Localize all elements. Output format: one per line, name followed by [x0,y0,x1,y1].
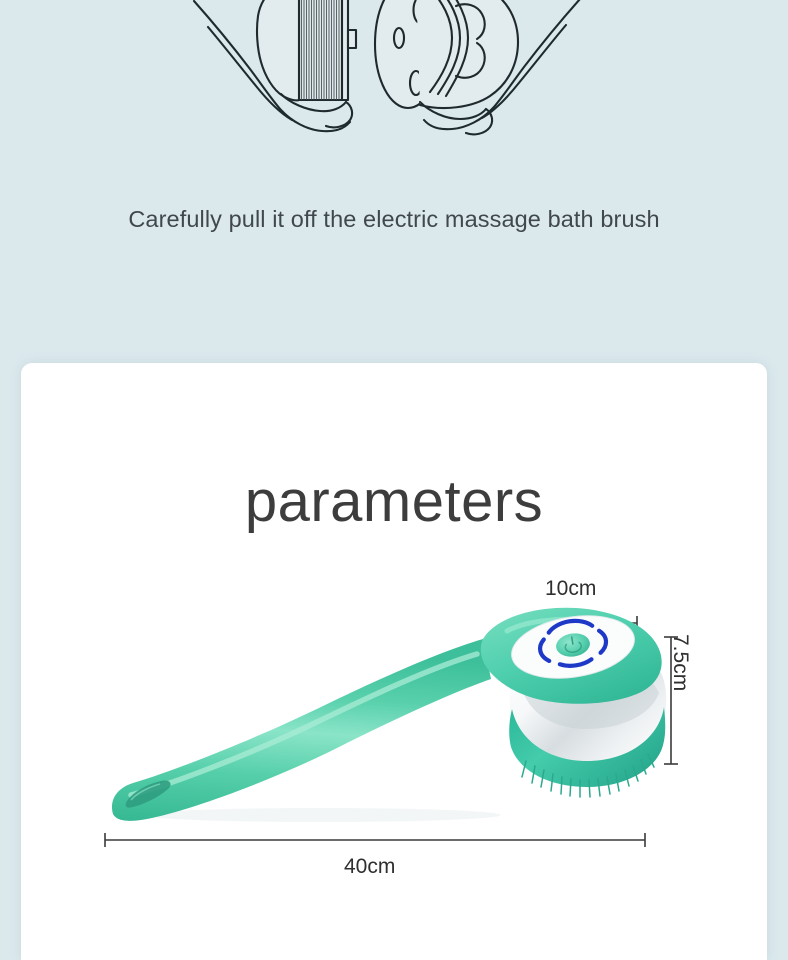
instruction-section: Carefully pull it off the electric massa… [0,0,788,363]
dimension-label-width: 10cm [545,577,596,601]
product-detail-page: Carefully pull it off the electric massa… [0,0,788,960]
bristle-hatch [299,0,342,100]
right-hand-with-device-body [375,0,580,134]
hands-separating-brush-illustration [180,0,600,162]
dimension-label-height: 7.5cm [668,634,692,691]
left-hand-with-brush-head [194,0,356,131]
dimension-line-length [105,833,645,847]
parameters-card: parameters [21,363,767,960]
brush-head [481,608,667,797]
dimension-label-length: 40cm [344,855,395,879]
brush-handle [112,639,491,821]
instruction-caption: Carefully pull it off the electric massa… [0,206,788,233]
product-image [112,608,666,822]
product-dimension-diagram: 10cm 7.5cm 40cm [21,363,767,960]
